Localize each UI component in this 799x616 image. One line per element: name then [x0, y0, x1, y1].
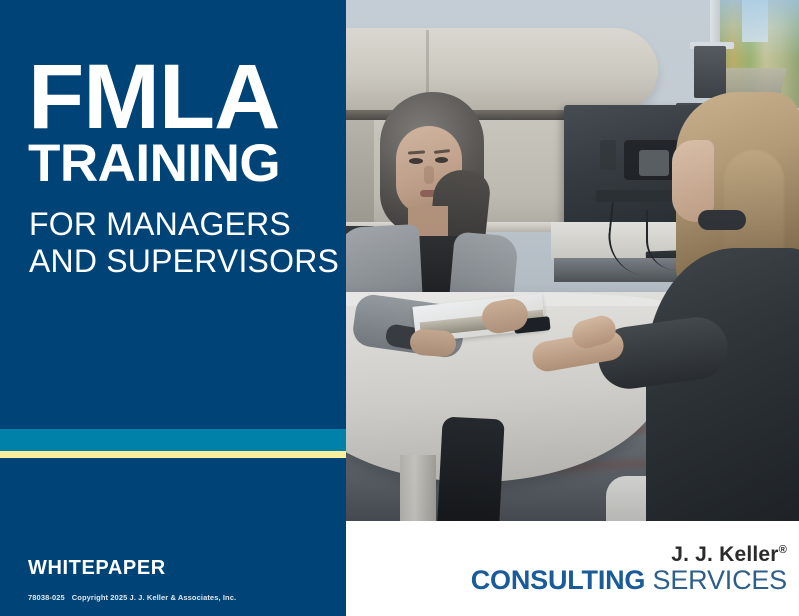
table-leg	[400, 455, 436, 521]
copyright-text: Copyright 2025 J. J. Keller & Associates…	[72, 593, 236, 602]
employee-collar	[698, 210, 746, 230]
overhead-cabinet	[346, 28, 658, 112]
cover-photo	[346, 0, 799, 521]
whitepaper-cover: FMLA TRAINING FOR MANAGERS AND SUPERVISO…	[0, 0, 799, 616]
monitor-mount-plate	[639, 150, 669, 176]
registered-trademark-icon: ®	[779, 544, 787, 556]
monitor-top-box	[694, 46, 726, 98]
manager-nose	[424, 166, 434, 184]
window-sky	[742, 0, 768, 42]
logo-company-name: J. J. Keller®	[471, 543, 787, 566]
document-type-label: WHITEPAPER	[28, 557, 166, 580]
title-block: FMLA TRAINING	[28, 58, 328, 191]
page-title-secondary: TRAINING	[28, 137, 328, 191]
manager-legs	[437, 416, 504, 521]
logo-company-text: J. J. Keller	[671, 543, 778, 566]
manager-hand-left	[409, 328, 457, 357]
page-title: FMLA	[28, 58, 328, 137]
manager-eye-right	[435, 157, 448, 163]
manager-eye-left	[409, 158, 423, 164]
page-subtitle-line-2: AND SUPERVISORS	[29, 243, 329, 280]
cubicle-side-panel	[346, 120, 374, 230]
logo-division: CONSULTING SERVICES	[471, 566, 787, 595]
jj-keller-logo: J. J. Keller® CONSULTING SERVICES	[471, 543, 787, 595]
employee-torso	[646, 248, 799, 521]
accent-bar-yellow	[0, 451, 346, 458]
logo-division-services: SERVICES	[645, 565, 787, 595]
logo-division-consulting: CONSULTING	[471, 565, 646, 595]
accent-bar-teal	[0, 429, 346, 451]
monitor-riser	[600, 140, 616, 170]
document-code: 78038-025	[28, 593, 65, 602]
page-subtitle-line-1: FOR MANAGERS	[29, 206, 329, 243]
copyright-line: 78038-025Copyright 2025 J. J. Keller & A…	[28, 593, 236, 602]
page-subtitle: FOR MANAGERS AND SUPERVISORS	[29, 206, 329, 281]
